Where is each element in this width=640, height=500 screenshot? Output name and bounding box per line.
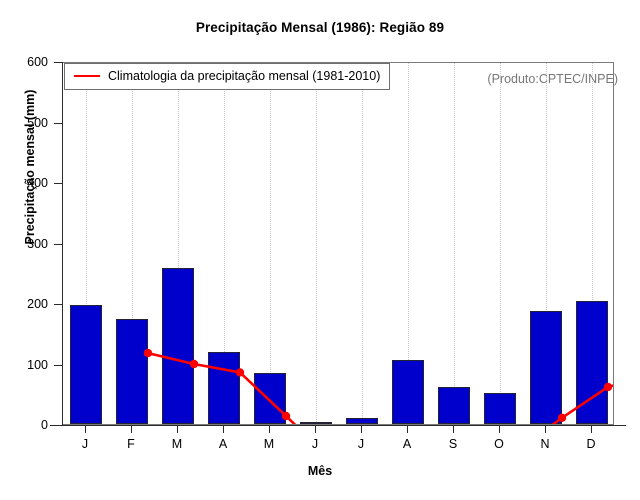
x-tick-label-2: M	[157, 437, 197, 451]
bar-m-2	[162, 268, 193, 424]
x-tick-mark	[223, 425, 224, 433]
y-tick-mark	[54, 365, 62, 366]
y-axis-line	[62, 62, 63, 425]
x-axis-title: Mês	[0, 464, 640, 478]
x-tick-label-10: N	[525, 437, 565, 451]
y-tick-mark	[54, 62, 62, 63]
y-axis-title: Precipitação mensal (mm)	[23, 0, 37, 347]
x-tick-label-7: A	[387, 437, 427, 451]
bar-j-0	[70, 305, 101, 424]
x-tick-mark	[131, 425, 132, 433]
legend-line-swatch	[74, 75, 100, 77]
legend-label: Climatologia da precipitação mensal (198…	[108, 69, 380, 83]
chart-title: Precipitação Mensal (1986): Região 89	[0, 20, 640, 35]
y-tick-label-100: 100	[0, 358, 48, 372]
x-tick-label-11: D	[571, 437, 611, 451]
bar-j-6	[346, 418, 377, 424]
chart-legend: Climatologia da precipitação mensal (198…	[64, 63, 390, 90]
x-tick-mark	[85, 425, 86, 433]
x-axis-line	[50, 425, 626, 426]
gridline-vertical	[270, 63, 272, 424]
bar-j-5	[300, 422, 331, 424]
x-tick-mark	[315, 425, 316, 433]
bar-f-1	[116, 319, 147, 424]
chart-figure: Precipitação Mensal (1986): Região 89 01…	[0, 0, 640, 500]
gridline-vertical	[500, 63, 502, 424]
x-tick-mark	[269, 425, 270, 433]
x-tick-mark	[545, 425, 546, 433]
bar-a-7	[392, 360, 423, 424]
x-tick-label-8: S	[433, 437, 473, 451]
bar-a-3	[208, 352, 239, 424]
bar-n-10	[530, 311, 561, 424]
gridline-vertical	[362, 63, 364, 424]
y-tick-mark	[54, 244, 62, 245]
x-tick-label-3: A	[203, 437, 243, 451]
x-tick-mark	[177, 425, 178, 433]
y-tick-label-0: 0	[0, 418, 48, 432]
x-tick-label-4: M	[249, 437, 289, 451]
gridline-vertical	[454, 63, 456, 424]
x-tick-mark	[453, 425, 454, 433]
y-tick-mark	[54, 304, 62, 305]
x-tick-mark	[361, 425, 362, 433]
plot-area	[62, 62, 614, 425]
x-tick-mark	[499, 425, 500, 433]
x-tick-label-0: J	[65, 437, 105, 451]
x-tick-mark	[591, 425, 592, 433]
y-tick-mark	[54, 183, 62, 184]
bar-d-11	[576, 301, 607, 424]
x-tick-label-9: O	[479, 437, 519, 451]
gridline-vertical	[316, 63, 318, 424]
attribution-text: (Produto:CPTEC/INPE)	[487, 72, 618, 86]
bar-o-9	[484, 393, 515, 424]
x-tick-mark	[407, 425, 408, 433]
x-tick-label-1: F	[111, 437, 151, 451]
x-tick-label-6: J	[341, 437, 381, 451]
bar-m-4	[254, 373, 285, 424]
y-tick-mark	[54, 123, 62, 124]
bar-s-8	[438, 387, 469, 424]
x-tick-label-5: J	[295, 437, 335, 451]
